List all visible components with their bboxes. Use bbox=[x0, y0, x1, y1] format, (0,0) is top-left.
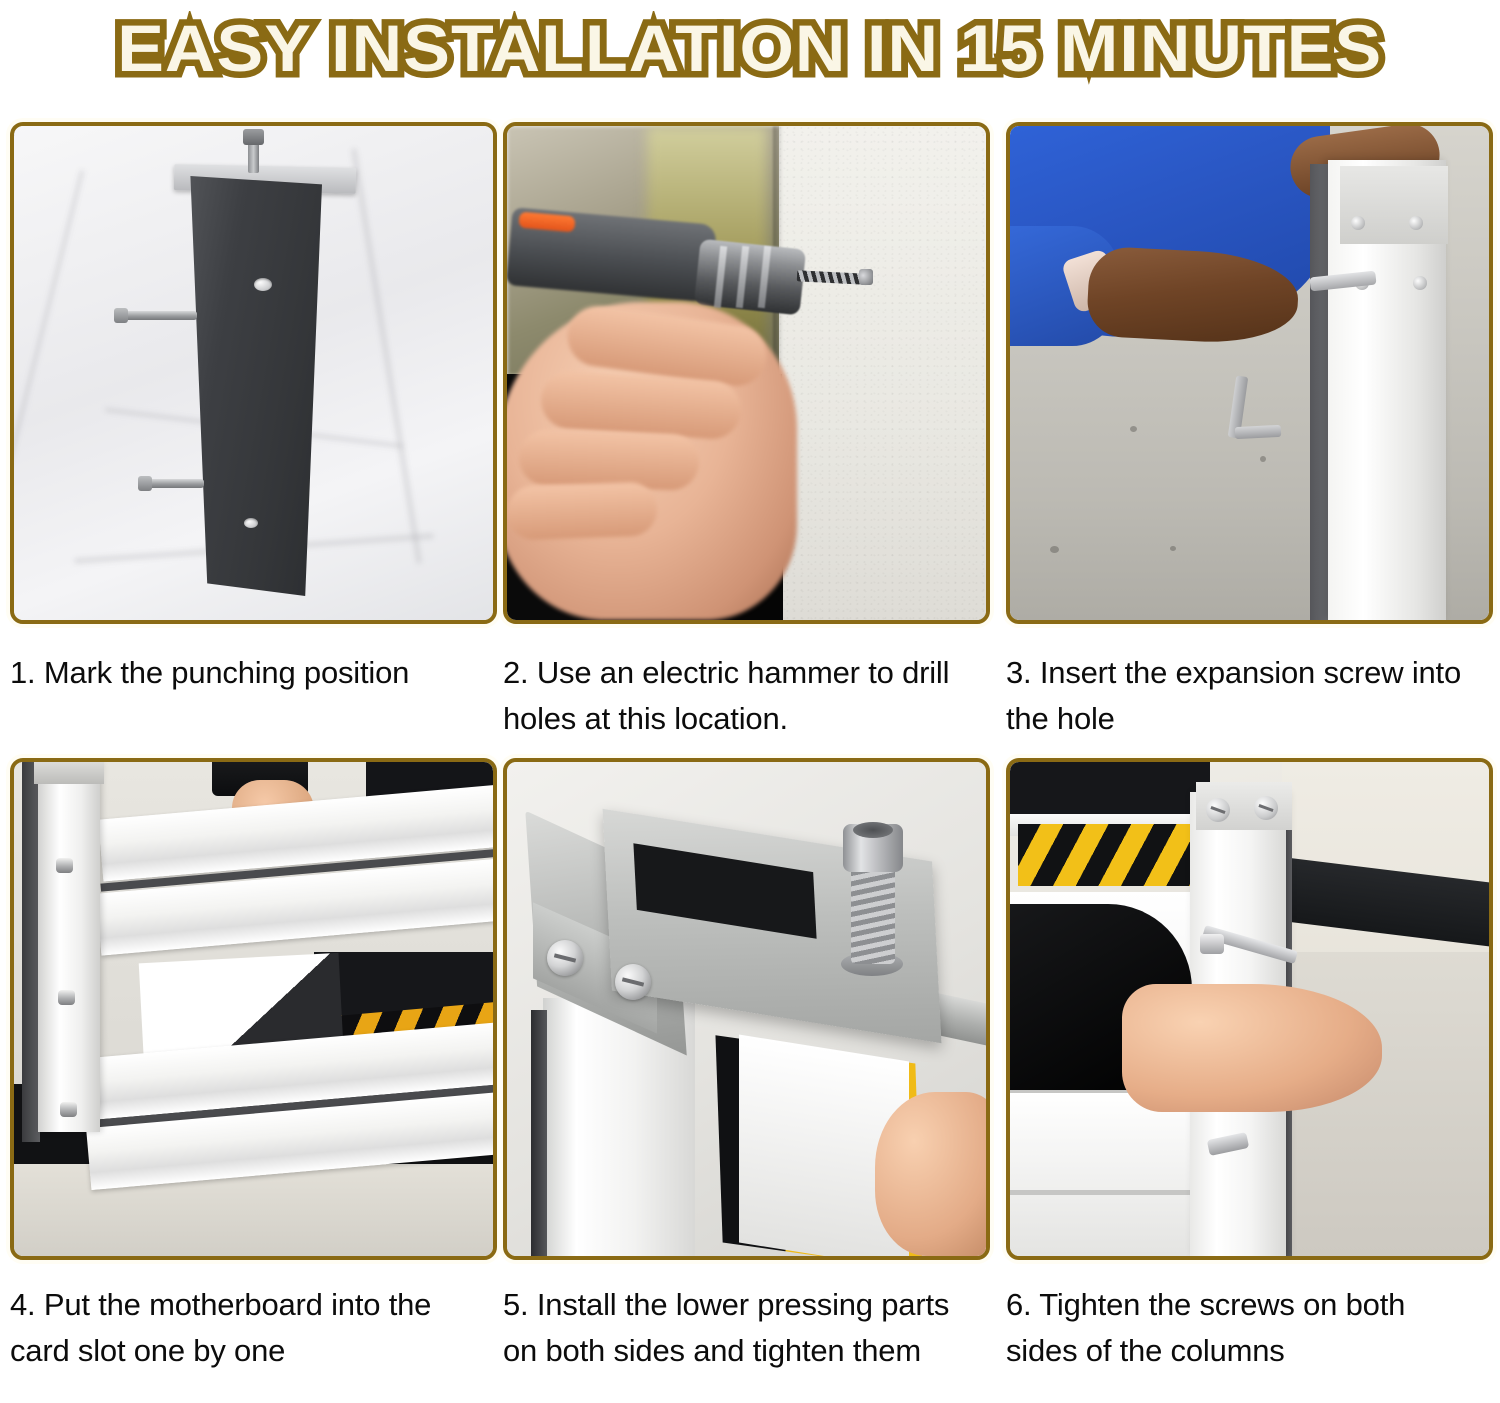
drill-chuck bbox=[694, 239, 806, 316]
post-top-cap bbox=[34, 762, 104, 784]
step-1-photo bbox=[10, 122, 497, 624]
expansion-screw bbox=[1351, 216, 1365, 230]
white-post-with-card-slot bbox=[38, 762, 100, 1132]
textured-wall bbox=[779, 126, 986, 620]
screwdriver-head bbox=[1200, 934, 1224, 954]
bracket-screw bbox=[547, 940, 583, 976]
punch-hole-lower bbox=[244, 518, 258, 528]
step-2-photo bbox=[503, 122, 990, 624]
top-bolt-nut bbox=[243, 129, 264, 145]
floor-speck bbox=[1050, 546, 1059, 553]
floor-speck bbox=[1130, 426, 1137, 432]
step-cell-4: 4. Put the motherboard into the card slo… bbox=[0, 742, 493, 1374]
column-mount-plate bbox=[1340, 166, 1448, 244]
expansion-stud-upper bbox=[119, 311, 197, 320]
step-cell-5: 5. Install the lower pressing parts on b… bbox=[493, 742, 996, 1374]
step-5-caption: 5. Install the lower pressing parts on b… bbox=[503, 1282, 973, 1374]
finger bbox=[518, 429, 700, 491]
step-3-photo bbox=[1006, 122, 1493, 624]
hand-supporting-part bbox=[875, 1092, 986, 1256]
step-6-caption: 6. Tighten the screws on both sides of t… bbox=[1006, 1282, 1476, 1374]
drill-bit-tip bbox=[859, 269, 873, 285]
step-4-caption: 4. Put the motherboard into the card slo… bbox=[10, 1282, 480, 1374]
expansion-stud-cap-lower bbox=[138, 476, 152, 491]
step-5-photo bbox=[503, 758, 990, 1260]
step-1-caption: 1. Mark the punching position bbox=[10, 650, 480, 696]
post-bolt bbox=[60, 1102, 77, 1117]
title-banner: EASY INSTALLATION IN 15 MINUTES bbox=[0, 0, 1500, 96]
column-screw bbox=[1254, 796, 1278, 820]
step-cell-6: 6. Tighten the screws on both sides of t… bbox=[996, 742, 1500, 1374]
column-screw bbox=[1206, 798, 1230, 822]
post-bolt bbox=[56, 858, 73, 873]
step-cell-1: 1. Mark the punching position bbox=[0, 122, 493, 742]
step-2-caption: 2. Use an electric hammer to drill holes… bbox=[503, 650, 973, 742]
infographic-page: EASY INSTALLATION IN 15 MINUTES bbox=[0, 0, 1500, 1403]
floor-speck bbox=[1260, 456, 1266, 462]
steps-grid: 1. Mark the punching position bbox=[0, 122, 1500, 1374]
bolt-thread bbox=[851, 866, 895, 964]
step-6-photo bbox=[1006, 758, 1493, 1260]
step-cell-2: 2. Use an electric hammer to drill holes… bbox=[493, 122, 996, 742]
page-title: EASY INSTALLATION IN 15 MINUTES bbox=[117, 15, 1382, 81]
board-seam bbox=[1010, 1190, 1196, 1195]
floor-speck bbox=[1170, 546, 1176, 551]
allen-key-short-arm bbox=[1235, 425, 1282, 439]
post-bolt bbox=[58, 990, 75, 1005]
bracket-screw bbox=[615, 964, 651, 1000]
step-4-photo bbox=[10, 758, 497, 1260]
expansion-screw bbox=[1409, 216, 1423, 230]
hand-tightening-screw bbox=[1122, 984, 1382, 1112]
expansion-stud-cap-upper bbox=[114, 308, 128, 323]
step-3-caption: 3. Insert the expansion screw into the h… bbox=[1006, 650, 1476, 742]
column-shadow-edge bbox=[1310, 164, 1330, 620]
floor bbox=[14, 1164, 493, 1256]
finger bbox=[507, 481, 658, 540]
expansion-screw bbox=[1413, 276, 1427, 290]
punch-hole-upper bbox=[254, 278, 272, 291]
bolt-socket-hole bbox=[853, 822, 893, 838]
step-cell-3: 3. Insert the expansion screw into the h… bbox=[996, 122, 1500, 742]
hazard-stripe-tape bbox=[1018, 824, 1190, 886]
column-shadow-edge bbox=[531, 1010, 547, 1256]
